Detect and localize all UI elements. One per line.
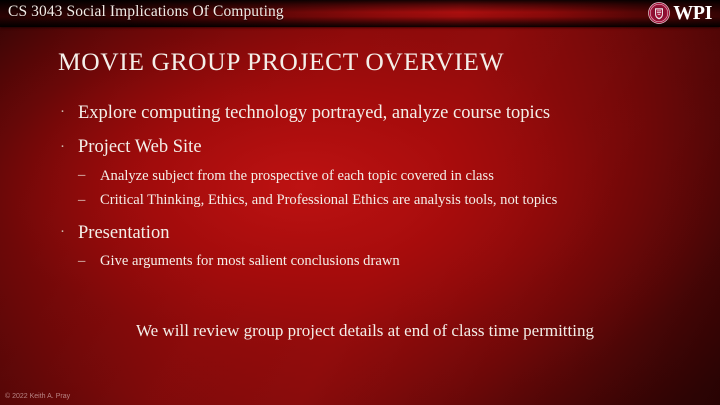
wpi-wordmark: WPI [673, 3, 712, 23]
sub-bullet-list: – Analyze subject from the prospective o… [78, 168, 672, 210]
sub-bullet-item: – Give arguments for most salient conclu… [78, 253, 672, 271]
sub-bullet-text: Analyze subject from the prospective of … [100, 168, 494, 184]
bullet-item: · Explore computing technology portrayed… [58, 103, 672, 124]
sub-bullet-item: – Critical Thinking, Ethics, and Profess… [78, 192, 672, 210]
dash-marker-icon: – [78, 167, 85, 185]
bullet-marker-icon: · [60, 139, 65, 156]
slide-title: MOVIE GROUP PROJECT OVERVIEW [58, 47, 504, 77]
presentation-slide: CS 3043 Social Implications Of Computing… [0, 0, 720, 405]
slide-header-bar: CS 3043 Social Implications Of Computing… [0, 0, 720, 27]
bullet-text: Explore computing technology portrayed, … [78, 103, 550, 123]
slide-body: · Explore computing technology portrayed… [58, 103, 672, 284]
sub-bullet-item: – Analyze subject from the prospective o… [78, 168, 672, 186]
copyright-notice: © 2022 Keith A. Pray [5, 392, 70, 401]
sub-bullet-text: Critical Thinking, Ethics, and Professio… [100, 192, 557, 208]
sub-bullet-text: Give arguments for most salient conclusi… [100, 253, 400, 269]
bullet-marker-icon: · [60, 224, 65, 241]
wpi-seal-icon [648, 2, 670, 24]
bullet-text: Presentation [78, 223, 169, 243]
course-title: CS 3043 Social Implications Of Computing [8, 3, 284, 21]
sub-bullet-list: – Give arguments for most salient conclu… [78, 253, 672, 271]
bullet-item: · Presentation – Give arguments for most… [58, 223, 672, 271]
closing-note: We will review group project details at … [58, 321, 672, 342]
dash-marker-icon: – [78, 253, 85, 271]
bullet-marker-icon: · [60, 104, 65, 121]
bullet-item: · Project Web Site – Analyze subject fro… [58, 137, 672, 209]
wpi-logo: WPI [648, 2, 712, 24]
bullet-text: Project Web Site [78, 137, 202, 157]
dash-marker-icon: – [78, 192, 85, 210]
